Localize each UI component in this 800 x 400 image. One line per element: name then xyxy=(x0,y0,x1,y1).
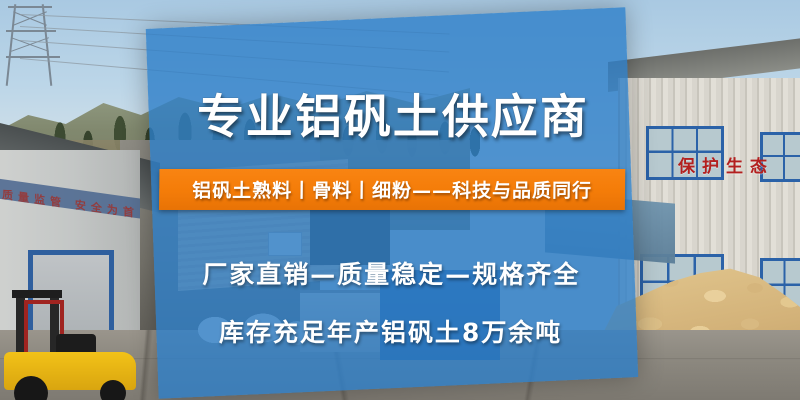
tagline-orange-bar: 铝矾土熟料丨骨料丨细粉——科技与品质同行 xyxy=(159,169,625,210)
forklift xyxy=(4,290,144,395)
blue-overlay-panel: 专业铝矾土供应商 铝矾土熟料丨骨料丨细粉——科技与品质同行 厂家直销—质量稳定—… xyxy=(146,7,638,399)
right-building-sign: 保护生态 xyxy=(678,152,774,177)
subline-1: 厂家直销—质量稳定—规格齐全 xyxy=(202,255,580,291)
subline-2: 库存充足年产铝矾土8万余吨 xyxy=(219,313,563,349)
forklift-mast-top xyxy=(12,290,62,298)
headline-title: 专业铝矾土供应商 xyxy=(197,78,590,147)
bauxite-supplier-banner: 保护生态 质量监管 安全为首 专业铝矾土供应商 xyxy=(0,0,800,400)
forklift-wheel xyxy=(100,380,126,400)
tagline-text: 铝矾土熟料丨骨料丨细粉——科技与品质同行 xyxy=(192,176,592,203)
